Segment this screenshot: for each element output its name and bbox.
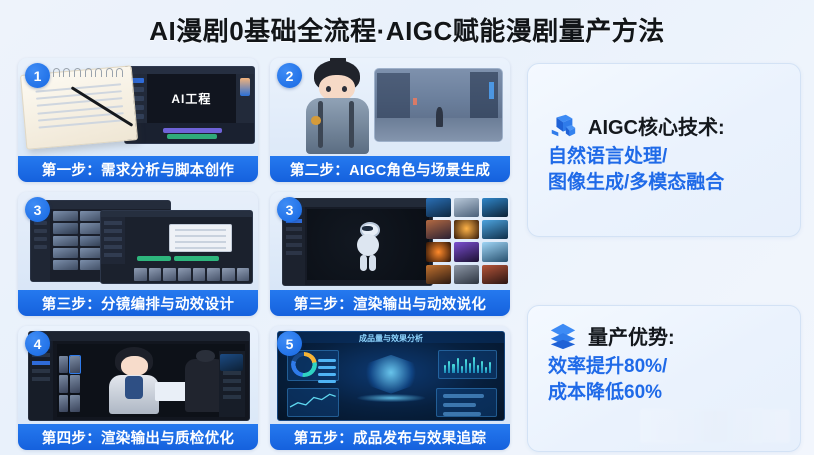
step-badge-4: 3 xyxy=(277,197,302,222)
step-card-4[interactable]: 3 xyxy=(270,192,510,316)
review-app-window-image xyxy=(28,331,251,421)
shot-thumbnail-strip xyxy=(57,354,81,413)
panel-body-advantage: 效率提升80%/ 成本降低60% xyxy=(528,350,800,405)
panel-header-tech: AIGC核心技术: xyxy=(528,110,800,140)
page-title-bar: AI漫剧0基础全流程·AIGC赋能漫剧量产方法 xyxy=(0,6,814,52)
panel-body-tech: 自然语言处理/ 图像生成/多模态融合 xyxy=(528,140,800,195)
panel-tech-line-1: 自然语言处理/ xyxy=(548,144,800,170)
step-card-1[interactable]: 1 AI工程 xyxy=(18,58,258,182)
scene-storyboard-editor-windows xyxy=(18,192,258,290)
scene-analytics-dashboard: 成品量与效果分析 xyxy=(270,326,510,424)
step-caption-6: 第五步：成品发布与效果追踪 xyxy=(270,424,510,450)
step-caption-4: 第三步：渲染输出与动效说化 xyxy=(270,290,510,316)
scene-anime-character-and-rainy-city xyxy=(270,58,510,156)
step-card-2[interactable]: 2 xyxy=(270,58,510,182)
scene-astronaut-render-and-gallery xyxy=(270,192,510,290)
step-card-3[interactable]: 3 xyxy=(18,192,258,316)
panel-advantage-line-2: 成本降低60% xyxy=(548,380,800,406)
step-thumbnail-5: 4 xyxy=(18,326,258,424)
summary-list-widget xyxy=(436,388,497,416)
render-app-window-image xyxy=(282,198,433,286)
panel-title-advantage: 量产优势: xyxy=(588,321,675,350)
astronaut-robot-image xyxy=(351,222,385,272)
script-editor-window-image: AI工程 xyxy=(124,66,256,144)
aigc-core-tech-panel: AIGC核心技术: 自然语言处理/ 图像生成/多模态融合 xyxy=(527,63,801,237)
step-caption-3: 第三步：分镜编排与动效设计 xyxy=(18,290,258,316)
inspector-panel-image xyxy=(219,351,245,416)
step-thumbnail-1: 1 AI工程 xyxy=(18,58,258,156)
editor-canvas-text: AI工程 xyxy=(147,74,236,124)
step-caption-1: 第一步：需求分析与脚本创作 xyxy=(18,156,258,182)
bar-chart-widget xyxy=(438,350,497,380)
step-thumbnail-6: 5 成品量与效果分析 xyxy=(270,326,510,424)
step-thumbnail-2: 2 xyxy=(270,58,510,156)
dashboard-title: 成品量与效果分析 xyxy=(359,333,423,344)
step-thumbnail-4: 3 xyxy=(270,192,510,290)
step-card-5[interactable]: 4 xyxy=(18,326,258,450)
panel-header-advantage: 量产优势: xyxy=(528,320,800,350)
step-card-6[interactable]: 5 成品量与效果分析 xyxy=(270,326,510,450)
infographic-page: AI漫剧0基础全流程·AIGC赋能漫剧量产方法 1 AI工程 xyxy=(0,0,814,455)
step-caption-2: 第二步：AIGC角色与场景生成 xyxy=(270,156,510,182)
dashboard-window-image: 成品量与效果分析 xyxy=(277,331,505,421)
panel-title-tech: AIGC核心技术: xyxy=(588,111,725,140)
hologram-hexagon-graphic xyxy=(364,355,418,394)
scene-character-render-review xyxy=(18,326,258,424)
mass-production-advantage-panel: 量产优势: 效率提升80%/ 成本降低60% xyxy=(527,305,801,452)
hologram-base-graphic xyxy=(357,394,425,403)
timeline-editor-window-image xyxy=(100,210,253,285)
step-thumbnail-3: 3 xyxy=(18,192,258,290)
watermark xyxy=(640,409,790,443)
step-badge-3: 3 xyxy=(25,197,50,222)
line-chart-widget xyxy=(287,388,339,416)
anime-character-image xyxy=(301,60,373,154)
step-badge-1: 1 xyxy=(25,63,50,88)
step-card-grid: 1 AI工程 xyxy=(18,58,510,450)
step-badge-2: 2 xyxy=(277,63,302,88)
step-badge-5: 4 xyxy=(25,331,50,356)
generated-image-gallery xyxy=(426,198,508,284)
rainy-city-scene-image xyxy=(374,68,503,143)
panel-tech-line-2: 图像生成/多模态融合 xyxy=(548,170,800,196)
female-character-image xyxy=(106,347,162,414)
layers-icon xyxy=(548,320,578,350)
page-title: AI漫剧0基础全流程·AIGC赋能漫剧量产方法 xyxy=(149,11,665,48)
cube-stack-icon xyxy=(548,110,578,140)
panel-advantage-line-1: 效率提升80%/ xyxy=(548,354,800,380)
scene-notebook-and-script-editor: AI工程 xyxy=(18,58,258,156)
step-badge-6: 5 xyxy=(277,331,302,356)
step-caption-5: 第四步：渲染输出与质检优化 xyxy=(18,424,258,450)
